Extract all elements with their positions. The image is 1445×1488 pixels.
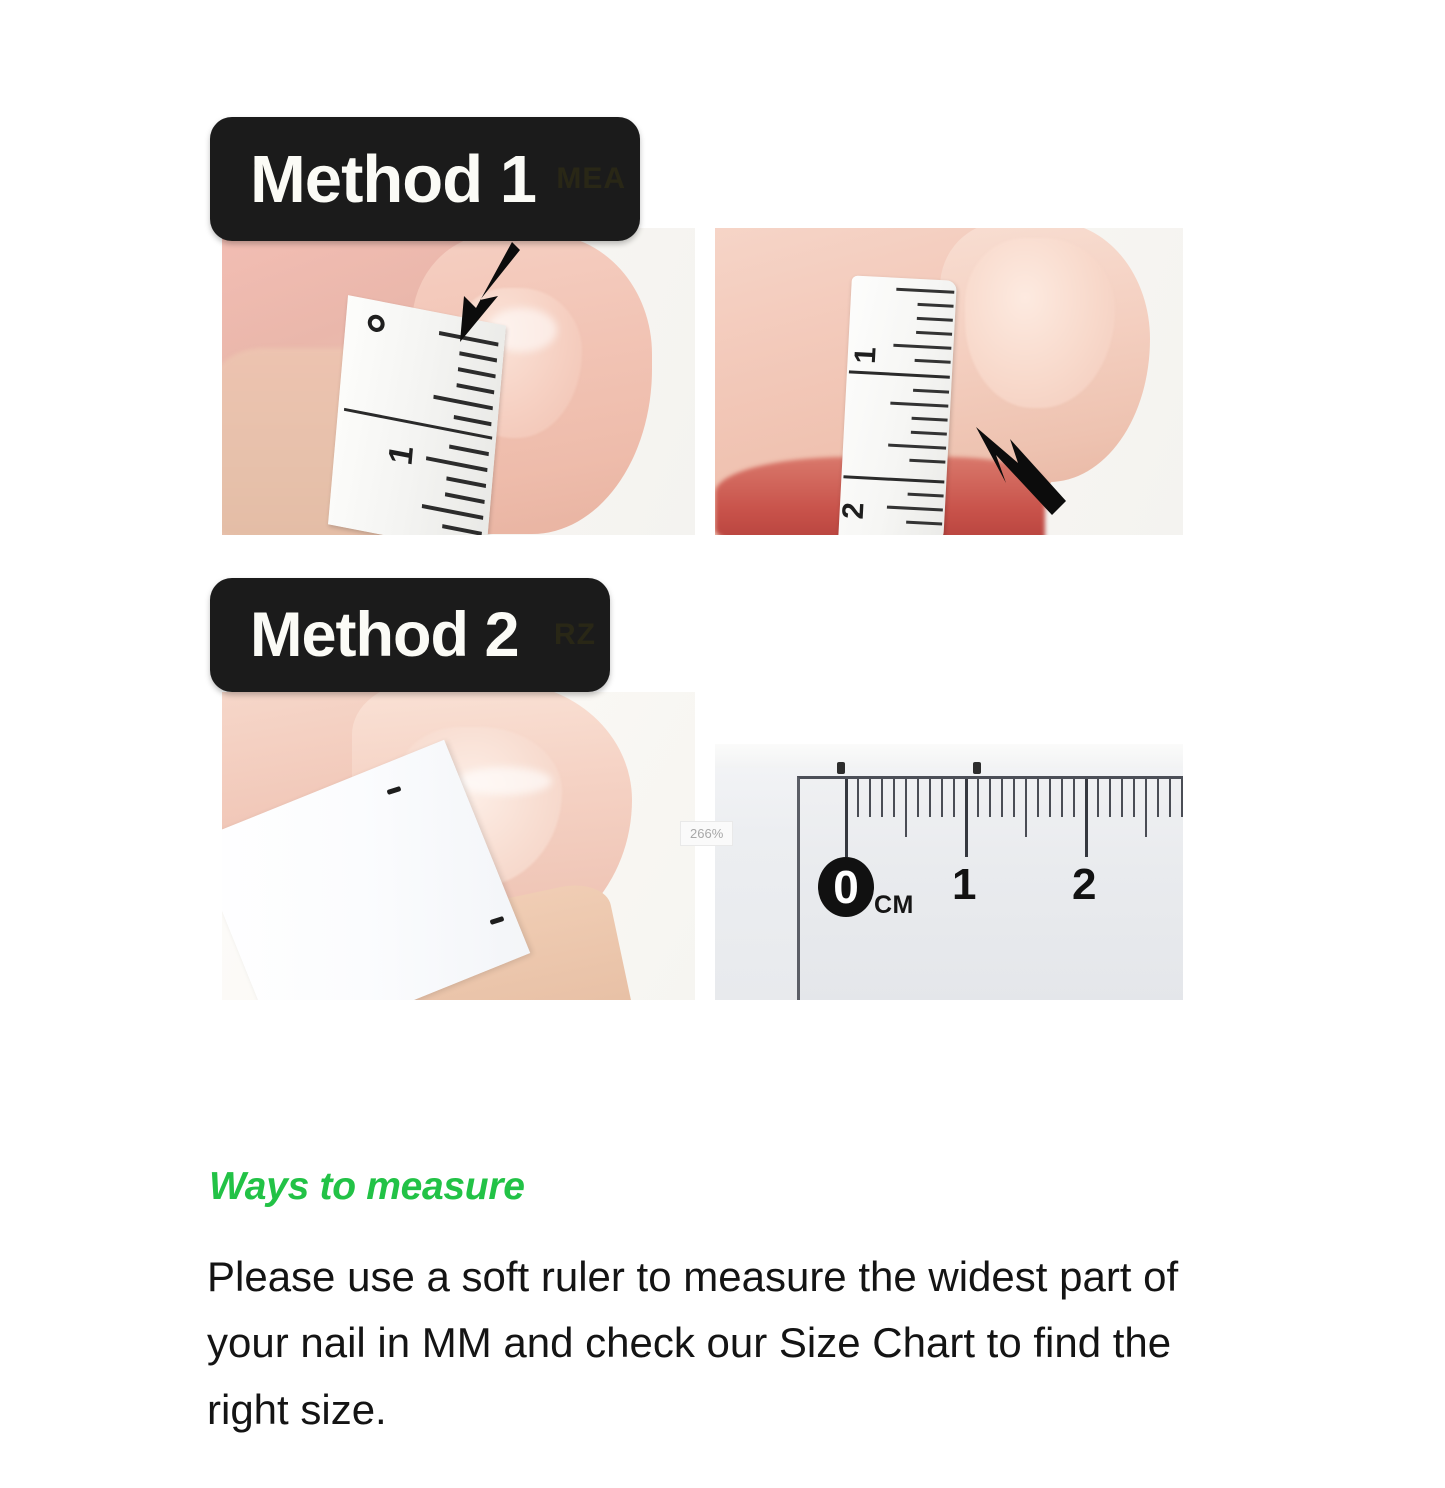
photo-method2-ruler: 0 CM 1 2 3 <box>715 744 1183 1000</box>
ruler-unit-label: CM <box>874 891 914 920</box>
measuring-guide-page: 1 1 2 <box>0 0 1445 1488</box>
zoom-level-indicator: 266% <box>680 821 733 846</box>
badge-ghost-text: MEA <box>556 162 626 196</box>
tape-major-line <box>849 370 950 378</box>
method-1-label: Method 1 <box>250 146 536 213</box>
photo-method1-side: 1 2 <box>715 228 1183 535</box>
section-heading: Ways to measure <box>209 1166 525 1209</box>
badge-ghost-text: RZ <box>554 618 596 652</box>
nail-highlight <box>457 767 552 795</box>
ruler-number-1: 1 <box>952 863 976 907</box>
photo-method2-paper-strip <box>222 692 695 1000</box>
pin-mark-right <box>973 762 981 774</box>
soft-measuring-tape: 1 2 <box>838 275 957 535</box>
tape-number-1: 1 <box>849 346 884 364</box>
ruler: 0 CM 1 2 3 <box>797 776 1183 1000</box>
instruction-paragraph: Please use a soft ruler to measure the w… <box>207 1244 1247 1443</box>
pointer-arrow-icon <box>440 238 530 348</box>
tape-number-2: 2 <box>837 502 872 520</box>
tape-major-line <box>843 475 944 483</box>
ruler-zero-label: 0 <box>818 857 874 917</box>
pin-mark-left <box>837 762 845 774</box>
tape-number-1: 1 <box>382 442 422 468</box>
tape-zero-mark <box>367 313 385 333</box>
method-2-label: Method 2 <box>250 604 519 667</box>
method-1-badge: Method 1 MEA <box>210 117 640 241</box>
tape-major-line <box>344 408 492 440</box>
backdrop-strip <box>715 744 1183 768</box>
photo-method1-front: 1 <box>222 228 695 535</box>
ruler-number-2: 2 <box>1072 863 1096 907</box>
method-2-badge: Method 2 RZ <box>210 578 610 692</box>
pointer-arrow-icon <box>970 423 1080 518</box>
